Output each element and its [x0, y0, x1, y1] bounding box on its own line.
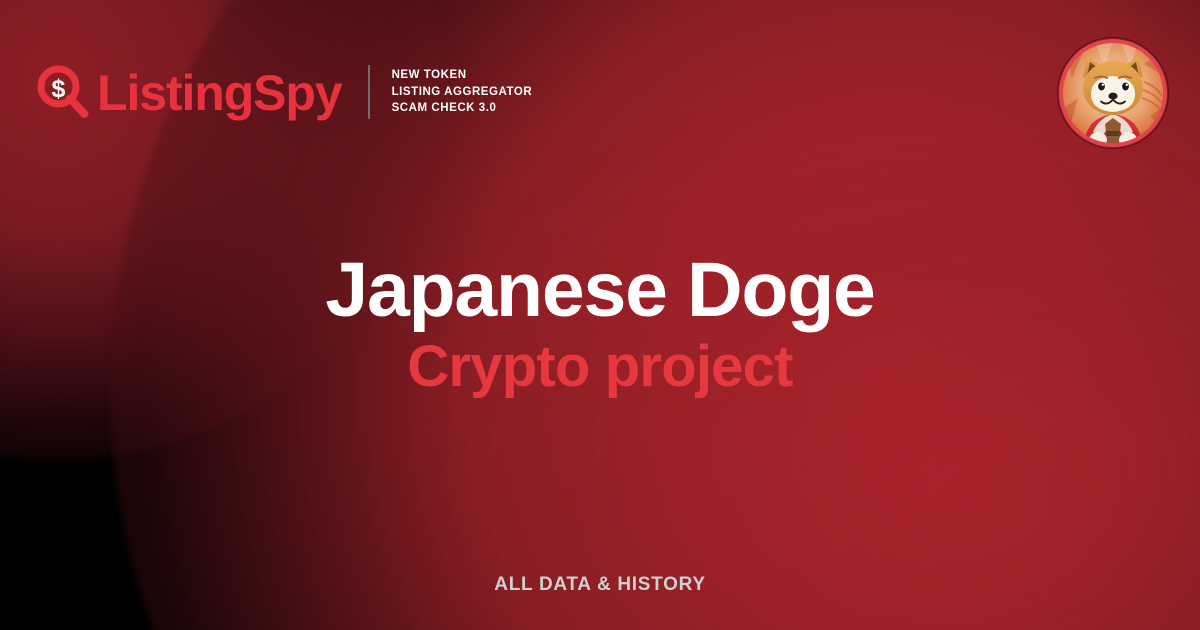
page-title: Japanese Doge — [0, 250, 1200, 330]
share-card: $ ListingSpy NEW TOKEN LISTING AGGREGATO… — [0, 0, 1200, 630]
page-subtitle: Crypto project — [0, 336, 1200, 399]
footer-block: ALL DATA & HISTORY — [0, 574, 1200, 596]
brand-divider — [368, 65, 370, 119]
magnifier-dollar-icon: $ — [36, 65, 90, 119]
tagline-line-2: LISTING AGGREGATOR — [392, 84, 533, 101]
shiba-inu-kimono-avatar[interactable] — [1058, 38, 1168, 148]
hero-block: Japanese Doge Crypto project — [0, 250, 1200, 399]
footer-caption: ALL DATA & HISTORY — [494, 574, 705, 596]
tagline-line-1: NEW TOKEN — [392, 67, 533, 84]
brand-tagline: NEW TOKEN LISTING AGGREGATOR SCAM CHECK … — [392, 67, 533, 117]
svg-text:$: $ — [52, 75, 66, 103]
brand-header[interactable]: $ ListingSpy NEW TOKEN LISTING AGGREGATO… — [36, 56, 532, 128]
tagline-line-3: SCAM CHECK 3.0 — [392, 100, 533, 117]
brand-name: ListingSpy — [97, 68, 342, 118]
